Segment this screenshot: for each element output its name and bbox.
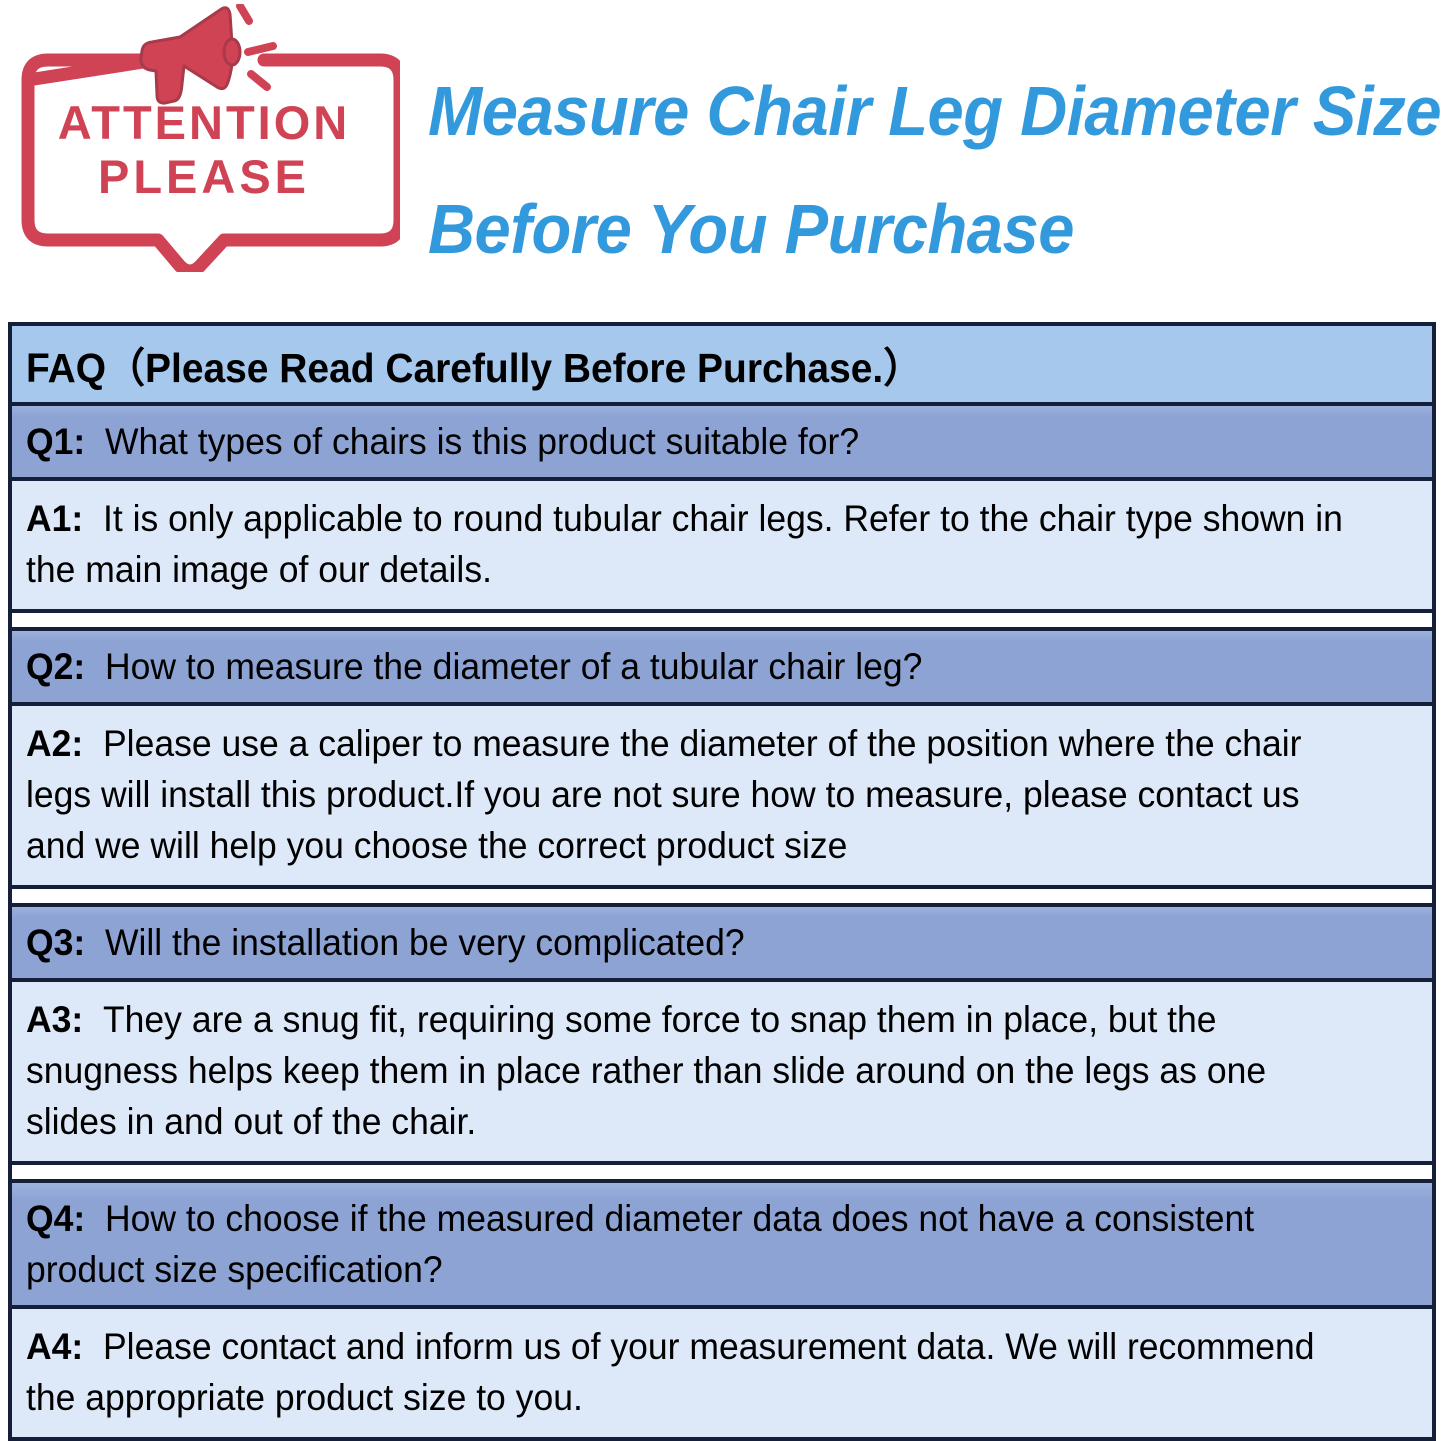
attention-line-2: PLEASE — [98, 152, 310, 202]
question-tag: Q2: — [26, 646, 105, 687]
answer-tag: A1: — [26, 498, 103, 539]
faq-question-row[interactable]: Q4:How to choose if the measured diamete… — [12, 1183, 1432, 1309]
answer-tag: A3: — [26, 999, 103, 1040]
faq-group-separator — [12, 613, 1432, 631]
answer-tag: A2: — [26, 723, 103, 764]
answer-tag: A4: — [26, 1326, 103, 1367]
megaphone-icon — [136, 4, 281, 112]
faq-question-row[interactable]: Q2:How to measure the diameter of a tubu… — [12, 631, 1432, 706]
question-text: How to choose if the measured diameter d… — [26, 1198, 1254, 1290]
faq-answer-row: A3:They are a snug fit, requiring some f… — [12, 982, 1432, 1165]
faq-answer-row: A4:Please contact and inform us of your … — [12, 1309, 1432, 1437]
answer-text: Please contact and inform us of your mea… — [26, 1326, 1315, 1418]
faq-header-row: FAQ（Please Read Carefully Before Purchas… — [12, 326, 1432, 406]
answer-text: It is only applicable to round tubular c… — [26, 498, 1343, 590]
question-tag: Q4: — [26, 1198, 105, 1239]
answer-text: Please use a caliper to measure the diam… — [26, 723, 1301, 866]
question-tag: Q3: — [26, 922, 105, 963]
page-title-line-2: Before You Purchase — [428, 170, 1367, 288]
answer-text: They are a snug fit, requiring some forc… — [26, 999, 1266, 1142]
page-title: Measure Chair Leg Diameter Size Before Y… — [428, 52, 1438, 288]
faq-group-separator — [12, 1165, 1432, 1183]
question-tag: Q1: — [26, 421, 105, 462]
faq-question-row[interactable]: Q1:What types of chairs is this product … — [12, 406, 1432, 481]
faq-group-separator — [12, 889, 1432, 907]
faq-header-label: FAQ（Please Read Carefully Before Purchas… — [26, 334, 922, 394]
faq-answer-row: A2:Please use a caliper to measure the d… — [12, 706, 1432, 889]
faq-answer-row: A1:It is only applicable to round tubula… — [12, 481, 1432, 613]
header-banner: ATTENTION PLEASE Measure Chair Leg Diame… — [0, 0, 1445, 310]
question-text: What types of chairs is this product sui… — [105, 421, 859, 462]
question-text: Will the installation be very complicate… — [105, 922, 745, 963]
page-title-line-1: Measure Chair Leg Diameter Size — [428, 52, 1367, 170]
faq-question-row[interactable]: Q3:Will the installation be very complic… — [12, 907, 1432, 982]
question-text: How to measure the diameter of a tubular… — [105, 646, 922, 687]
faq-table: FAQ（Please Read Carefully Before Purchas… — [8, 322, 1436, 1441]
